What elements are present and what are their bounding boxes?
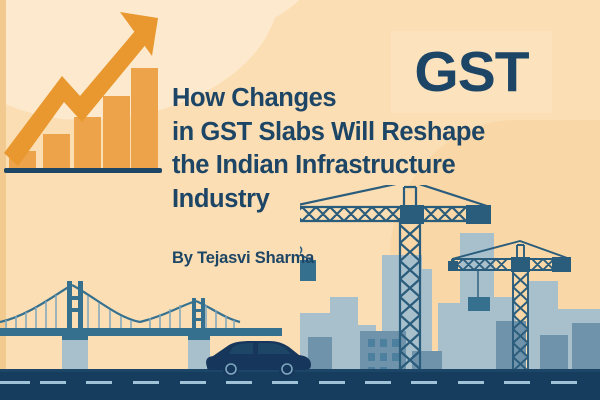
road-dash — [504, 381, 530, 384]
chart-baseline — [4, 168, 162, 173]
road-dash — [272, 381, 298, 384]
road-dash — [0, 381, 26, 384]
page-title: How Changes in GST Slabs Will Reshape th… — [172, 82, 572, 217]
chart-bar-3 — [74, 117, 101, 168]
road-dash — [458, 381, 484, 384]
sedan-car — [203, 337, 313, 377]
road-dash — [319, 381, 345, 384]
chart-bar-5 — [131, 68, 158, 168]
road-dash — [365, 381, 391, 384]
title-line-4: Industry — [172, 183, 572, 217]
road-dash — [40, 381, 66, 384]
bridge-deck — [0, 328, 282, 336]
author-byline: By Tejasvi Sharma — [172, 249, 314, 268]
title-line-1: How Changes — [172, 82, 572, 116]
road-dash — [551, 381, 577, 384]
chart-bar-4 — [103, 96, 130, 168]
road-dash — [180, 381, 206, 384]
road-dash — [411, 381, 437, 384]
road-dash — [133, 381, 159, 384]
road-dash — [226, 381, 252, 384]
chart-bar-2 — [43, 134, 70, 168]
road-dash — [86, 381, 112, 384]
poster-canvas: GST How Changes in GST Slabs Will Reshap… — [0, 0, 600, 400]
title-line-2: in GST Slabs Will Reshape — [172, 116, 572, 150]
growth-bar-chart — [0, 0, 200, 185]
title-line-3: the Indian Infrastructure — [172, 149, 572, 183]
